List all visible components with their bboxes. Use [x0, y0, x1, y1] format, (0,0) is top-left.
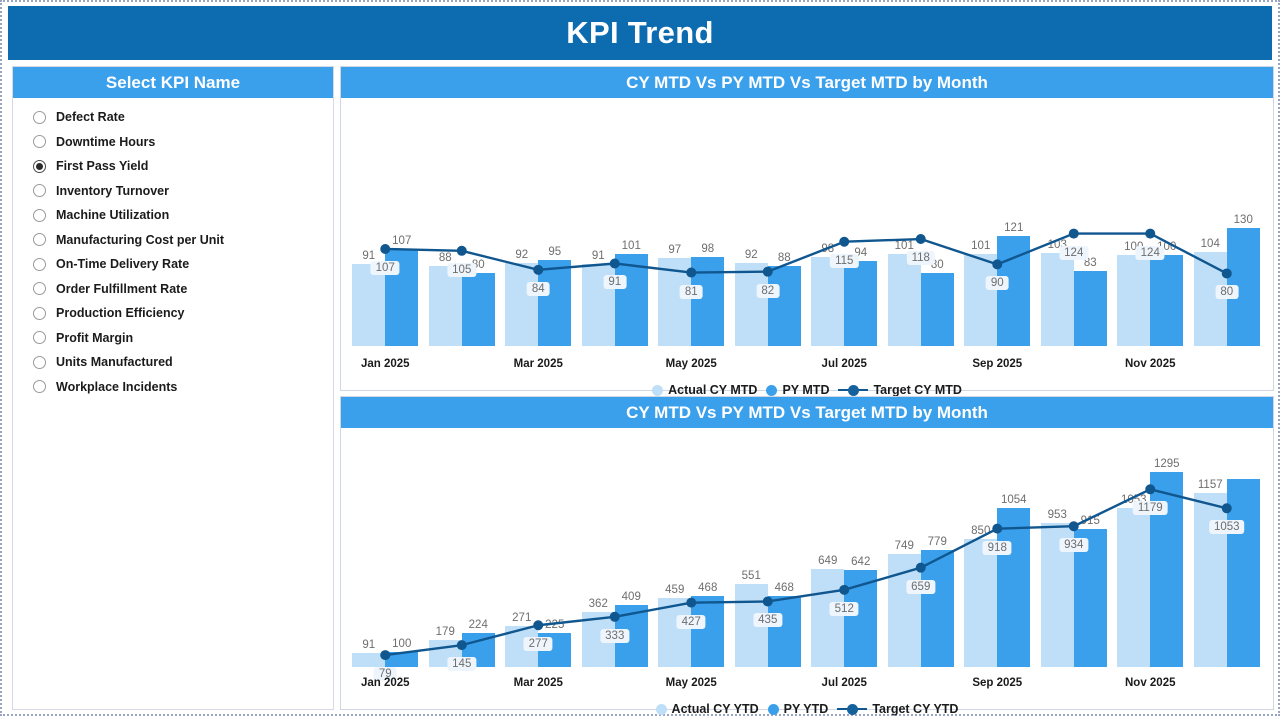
kpi-radio-item[interactable]: Manufacturing Cost per Unit [13, 228, 333, 253]
legend-item[interactable]: PY YTD [768, 702, 829, 716]
legend-label: PY MTD [782, 383, 829, 397]
kpi-radio-item[interactable]: Downtime Hours [13, 130, 333, 155]
x-axis-tick-label: Sep 2025 [972, 358, 1022, 370]
bar-actual[interactable] [888, 554, 921, 667]
chart-header-mtd: CY MTD Vs PY MTD Vs Target MTD by Month [341, 67, 1273, 98]
bar-value-label: 92 [745, 249, 758, 261]
kpi-radio-item[interactable]: Production Efficiency [13, 301, 333, 326]
x-axis-tick-label: Mar 2025 [514, 677, 563, 689]
kpi-radio-item[interactable]: Units Manufactured [13, 350, 333, 375]
kpi-radio-item[interactable]: Order Fulfillment Rate [13, 277, 333, 302]
x-axis-tick-label: May 2025 [666, 358, 717, 370]
chart-title-mtd: CY MTD Vs PY MTD Vs Target MTD by Month [626, 73, 988, 93]
slicer-title: Select KPI Name [106, 73, 240, 93]
kpi-radio-label: Machine Utilization [56, 208, 169, 222]
bar-value-label: 98 [701, 243, 714, 255]
kpi-radio-item[interactable]: Profit Margin [13, 326, 333, 351]
target-value-label: 115 [830, 254, 858, 268]
page-header: KPI Trend [8, 6, 1272, 60]
radio-selected-icon[interactable] [33, 160, 46, 173]
bar-py[interactable] [844, 570, 877, 667]
kpi-radio-label: Production Efficiency [56, 306, 185, 320]
kpi-radio-label: Order Fulfillment Rate [56, 282, 187, 296]
bar-py[interactable] [691, 257, 724, 346]
kpi-radio-item[interactable]: First Pass Yield [13, 154, 333, 179]
target-value-label: 124 [1136, 246, 1165, 260]
bar-actual[interactable] [658, 258, 691, 346]
target-value-label: 118 [907, 251, 935, 265]
radio-unselected-icon[interactable] [33, 233, 46, 246]
target-value-label: 91 [603, 275, 626, 289]
bar-value-label: 362 [589, 598, 608, 610]
bar-actual[interactable] [735, 263, 768, 346]
kpi-radio-label: First Pass Yield [56, 159, 148, 173]
bar-actual[interactable] [1041, 253, 1074, 346]
legend-item[interactable]: PY MTD [766, 383, 829, 397]
bar-py[interactable] [691, 596, 724, 667]
bar-actual[interactable] [964, 254, 997, 346]
legend-item[interactable]: Actual CY YTD [656, 702, 759, 716]
legend-item[interactable]: Actual CY MTD [652, 383, 757, 397]
chart-plot-ytd: 9117927136245955164974985095310531157100… [341, 428, 1273, 675]
radio-unselected-icon[interactable] [33, 282, 46, 295]
bar-py[interactable] [768, 596, 801, 667]
x-axis-tick-label: Mar 2025 [514, 358, 563, 370]
bar-value-label: 915 [1081, 515, 1100, 527]
bar-value-label: 107 [392, 235, 411, 247]
bar-value-label: 179 [436, 626, 455, 638]
bar-py[interactable] [615, 254, 648, 346]
target-value-label: 918 [983, 541, 1012, 555]
legend-item[interactable]: Target CY MTD [838, 383, 961, 397]
dashboard-canvas: KPI Trend Select KPI Name Defect RateDow… [0, 0, 1280, 716]
legend-label: Actual CY MTD [668, 383, 757, 397]
kpi-radio-item[interactable]: Workplace Incidents [13, 375, 333, 400]
bar-value-label: 409 [622, 591, 641, 603]
chart-plot-mtd: 9188929197929810110110310010410780951019… [341, 98, 1273, 356]
legend-item[interactable]: Target CY YTD [837, 702, 958, 716]
legend-label: Actual CY YTD [672, 702, 759, 716]
chart-card-mtd: CY MTD Vs PY MTD Vs Target MTD by Month … [340, 66, 1274, 391]
kpi-radio-item[interactable]: On-Time Delivery Rate [13, 252, 333, 277]
kpi-slicer-panel: Select KPI Name Defect RateDowntime Hour… [12, 66, 334, 710]
chart-xaxis-mtd: Jan 2025Mar 2025May 2025Jul 2025Sep 2025… [341, 356, 1273, 378]
bar-py[interactable] [921, 550, 954, 667]
x-axis-tick-label: Jul 2025 [822, 677, 867, 689]
x-axis-tick-label: Nov 2025 [1125, 358, 1176, 370]
chart-title-ytd: CY MTD Vs PY MTD Vs Target MTD by Month [626, 403, 988, 423]
legend-label: PY YTD [784, 702, 829, 716]
x-axis-tick-label: Sep 2025 [972, 677, 1022, 689]
kpi-radio-list: Defect RateDowntime HoursFirst Pass Yiel… [13, 98, 333, 399]
kpi-radio-label: Units Manufactured [56, 355, 173, 369]
bar-py[interactable] [538, 260, 571, 346]
bar-value-label: 92 [515, 249, 528, 261]
radio-unselected-icon[interactable] [33, 135, 46, 148]
bar-value-label: 224 [469, 619, 488, 631]
bar-value-label: 551 [742, 570, 761, 582]
bar-value-label: 97 [668, 244, 681, 256]
radio-unselected-icon[interactable] [33, 111, 46, 124]
legend-swatch-icon [766, 385, 777, 396]
bar-py[interactable] [768, 266, 801, 346]
target-value-label: 277 [524, 637, 553, 651]
target-value-label: 105 [447, 263, 476, 277]
target-value-label: 80 [1215, 285, 1238, 299]
radio-unselected-icon[interactable] [33, 331, 46, 344]
legend-line-marker-icon [837, 704, 867, 715]
kpi-radio-label: Workplace Incidents [56, 380, 177, 394]
bar-value-label: 100 [392, 638, 411, 650]
target-value-label: 84 [527, 282, 550, 296]
kpi-radio-label: Defect Rate [56, 110, 125, 124]
bar-value-label: 649 [818, 555, 837, 567]
target-value-label: 145 [447, 657, 476, 671]
bar-value-label: 225 [545, 619, 564, 631]
target-value-label: 934 [1059, 538, 1088, 552]
bar-actual[interactable] [658, 598, 691, 667]
target-value-label: 1053 [1209, 520, 1245, 534]
bar-actual[interactable] [964, 539, 997, 667]
bar-value-label: 88 [778, 252, 791, 264]
target-value-label: 512 [830, 602, 859, 616]
bar-py[interactable] [1150, 255, 1183, 346]
bar-value-label: 468 [698, 582, 717, 594]
bar-py[interactable] [844, 261, 877, 346]
bar-value-label: 95 [548, 246, 561, 258]
radio-unselected-icon[interactable] [33, 307, 46, 320]
x-axis-tick-label: Jan 2025 [361, 677, 410, 689]
bar-value-label: 468 [775, 582, 794, 594]
kpi-radio-label: On-Time Delivery Rate [56, 257, 189, 271]
kpi-radio-item[interactable]: Inventory Turnover [13, 179, 333, 204]
bar-value-label: 91 [362, 250, 375, 262]
x-axis-tick-label: May 2025 [666, 677, 717, 689]
radio-unselected-icon[interactable] [33, 380, 46, 393]
bar-actual[interactable] [1117, 508, 1150, 667]
kpi-radio-item[interactable]: Defect Rate [13, 105, 333, 130]
bar-actual[interactable] [811, 569, 844, 667]
bar-value-label: 91 [362, 639, 375, 651]
legend-swatch-icon [768, 704, 779, 715]
bar-value-label: 749 [895, 540, 914, 552]
bar-py[interactable] [1227, 479, 1260, 667]
radio-unselected-icon[interactable] [33, 356, 46, 369]
bar-actual[interactable] [352, 264, 385, 347]
chart-card-ytd: CY MTD Vs PY MTD Vs Target MTD by Month … [340, 396, 1274, 710]
target-value-label: 124 [1059, 246, 1088, 260]
chart-xaxis-ytd: Jan 2025Mar 2025May 2025Jul 2025Sep 2025… [341, 675, 1273, 697]
kpi-radio-label: Manufacturing Cost per Unit [56, 233, 224, 247]
bar-actual[interactable] [1117, 255, 1150, 346]
x-axis-tick-label: Nov 2025 [1125, 677, 1176, 689]
bar-value-label: 779 [928, 536, 947, 548]
target-value-label: 435 [753, 613, 782, 627]
kpi-radio-item[interactable]: Machine Utilization [13, 203, 333, 228]
bar-value-label: 850 [971, 525, 990, 537]
chart-legend-ytd: Actual CY YTDPY YTDTarget CY YTD [341, 697, 1273, 716]
bar-value-label: 642 [851, 556, 870, 568]
bar-py[interactable] [385, 652, 418, 667]
bar-actual[interactable] [888, 254, 921, 346]
bar-value-label: 104 [1201, 238, 1220, 250]
bar-py[interactable] [462, 273, 495, 346]
bar-value-label: 1295 [1154, 458, 1180, 470]
target-value-label: 427 [677, 615, 706, 629]
bar-value-label: 121 [1004, 222, 1023, 234]
target-value-label: 81 [680, 285, 703, 299]
radio-unselected-icon[interactable] [33, 184, 46, 197]
slicer-header: Select KPI Name [13, 67, 333, 98]
bar-value-label: 459 [665, 584, 684, 596]
page-title: KPI Trend [566, 15, 713, 51]
bar-actual[interactable] [1194, 493, 1227, 667]
bar-value-label: 1054 [1001, 494, 1027, 506]
kpi-radio-label: Inventory Turnover [56, 184, 169, 198]
bar-value-label: 101 [971, 240, 990, 252]
target-value-label: 90 [986, 276, 1009, 290]
legend-swatch-icon [652, 385, 663, 396]
x-axis-tick-label: Jul 2025 [822, 358, 867, 370]
radio-unselected-icon[interactable] [33, 258, 46, 271]
chart-header-ytd: CY MTD Vs PY MTD Vs Target MTD by Month [341, 397, 1273, 428]
bar-value-label: 101 [622, 240, 641, 252]
target-value-label: 107 [371, 261, 400, 275]
x-axis-tick-label: Jan 2025 [361, 358, 410, 370]
target-value-label: 659 [906, 580, 935, 594]
bar-value-label: 271 [512, 612, 531, 624]
legend-swatch-icon [656, 704, 667, 715]
bar-py[interactable] [997, 508, 1030, 667]
bar-value-label: 1157 [1198, 479, 1223, 491]
radio-unselected-icon[interactable] [33, 209, 46, 222]
bar-value-label: 91 [592, 250, 605, 262]
kpi-radio-label: Profit Margin [56, 331, 133, 345]
target-value-label: 333 [600, 629, 629, 643]
legend-label: Target CY YTD [872, 702, 958, 716]
bar-py[interactable] [1074, 271, 1107, 346]
legend-label: Target CY MTD [873, 383, 961, 397]
target-value-label: 82 [756, 284, 779, 298]
bar-actual[interactable] [505, 263, 538, 346]
bar-py[interactable] [921, 273, 954, 346]
bar-value-label: 130 [1234, 214, 1253, 226]
bar-actual[interactable] [352, 653, 385, 667]
bar-value-label: 953 [1048, 509, 1067, 521]
bar-actual[interactable] [429, 266, 462, 346]
bar-py[interactable] [997, 236, 1030, 346]
bar-actual[interactable] [811, 257, 844, 346]
legend-line-marker-icon [838, 385, 868, 396]
target-value-label: 1179 [1133, 501, 1168, 515]
kpi-radio-label: Downtime Hours [56, 135, 155, 149]
